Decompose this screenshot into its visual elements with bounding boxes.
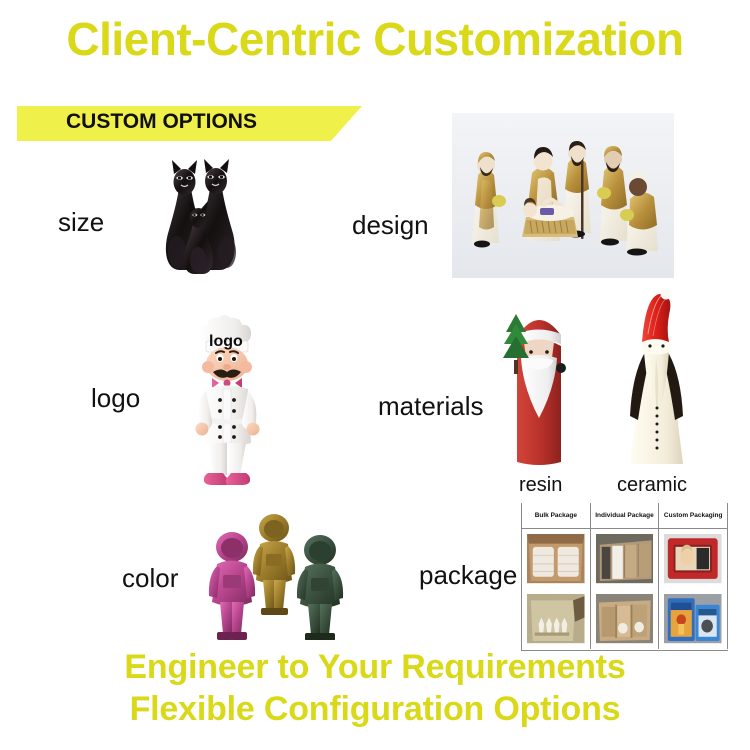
package-table-row	[522, 529, 728, 589]
package-table-header-row: Bulk Package Individual Package Custom P…	[522, 503, 728, 529]
package-column-header-bulk: Bulk Package	[522, 503, 591, 528]
package-photo-individual-1	[591, 529, 660, 589]
package-photo-bulk-2	[522, 589, 591, 649]
page-title: Client-Centric Customization	[0, 12, 750, 66]
package-table-row	[522, 589, 728, 649]
logo-overlay-text: logo	[209, 333, 243, 351]
option-label-materials: materials	[378, 391, 483, 422]
custom-options-label: CUSTOM OPTIONS	[66, 110, 257, 134]
option-label-logo: logo	[91, 383, 140, 414]
footer-tagline-line1: Engineer to Your Requirements	[0, 648, 750, 687]
package-column-header-custom: Custom Packaging	[659, 503, 728, 528]
option-label-color: color	[122, 563, 178, 594]
image-color-astronaut-figurines	[200, 510, 355, 640]
package-photo-individual-2	[591, 589, 660, 649]
package-column-header-individual: Individual Package	[591, 503, 660, 528]
option-label-package: package	[419, 560, 517, 591]
option-label-size: size	[58, 207, 104, 238]
image-size-cat-figurines	[147, 152, 257, 277]
image-design-nativity-set	[452, 113, 674, 278]
package-photo-custom-2	[659, 589, 728, 649]
package-photo-custom-1	[659, 529, 728, 589]
footer-tagline-line2: Flexible Configuration Options	[0, 690, 750, 729]
image-material-ceramic-santa	[614, 288, 699, 470]
image-material-resin-santa	[497, 290, 582, 470]
package-photo-bulk-1	[522, 529, 591, 589]
slide-root: Client-Centric Customization CUSTOM OPTI…	[0, 0, 750, 750]
material-label-ceramic: ceramic	[617, 474, 687, 497]
option-label-design: design	[352, 210, 429, 241]
material-label-resin: resin	[519, 474, 562, 497]
package-comparison-table: Bulk Package Individual Package Custom P…	[521, 503, 728, 650]
